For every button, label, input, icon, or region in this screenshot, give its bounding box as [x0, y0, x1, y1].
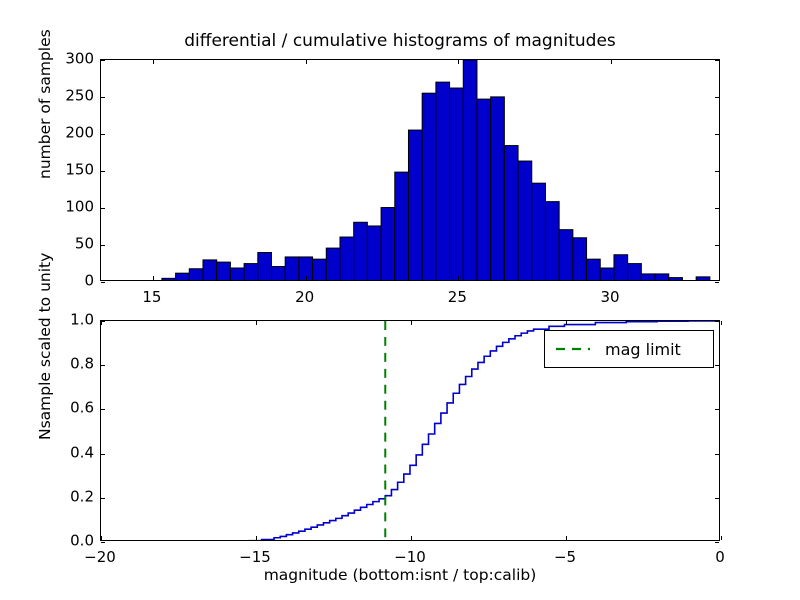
histogram-bar: [641, 274, 655, 280]
y-tick-mark: [101, 282, 105, 283]
y-tick-label: 0.0: [38, 534, 94, 549]
y-tick-mark: [101, 208, 105, 209]
histogram-bar: [395, 172, 409, 280]
x-tick-label: 30: [601, 290, 620, 305]
y-tick-mark: [715, 171, 719, 172]
histogram-bar: [258, 253, 272, 280]
y-tick-mark: [715, 321, 719, 322]
y-tick-mark: [715, 134, 719, 135]
histogram-bar: [230, 268, 244, 280]
figure-canvas: differential / cumulative histograms of …: [0, 0, 800, 600]
x-axis-label: magnitude (bottom:isnt / top:calib): [0, 566, 800, 584]
x-tick-mark: [411, 536, 412, 540]
x-tick-mark: [721, 321, 722, 325]
x-tick-label: 15: [142, 290, 161, 305]
x-tick-label: −10: [394, 550, 426, 565]
histogram-bar: [628, 264, 642, 280]
histogram-bar: [614, 255, 628, 280]
y-tick-mark: [101, 454, 105, 455]
y-tick-label: 300: [38, 52, 94, 67]
x-tick-mark: [458, 60, 459, 64]
y-tick-label: 1.0: [38, 313, 94, 328]
y-tick-mark: [715, 498, 719, 499]
y-tick-label: 0.4: [38, 445, 94, 460]
x-tick-mark: [611, 276, 612, 280]
histogram-bar: [491, 97, 505, 280]
y-tick-mark: [101, 97, 105, 98]
histogram-bar: [189, 269, 203, 280]
y-tick-mark: [101, 365, 105, 366]
y-tick-mark: [101, 542, 105, 543]
page-title: differential / cumulative histograms of …: [0, 31, 800, 51]
x-tick-mark: [411, 321, 412, 325]
y-tick-mark: [715, 282, 719, 283]
y-tick-label: 50: [38, 237, 94, 252]
mag-limit-line-icon: [555, 342, 591, 356]
x-tick-mark: [611, 60, 612, 64]
histogram-bar: [669, 278, 683, 280]
x-tick-label: −5: [554, 550, 576, 565]
histogram-bar: [573, 238, 587, 280]
legend-label-mag-limit: mag limit: [605, 340, 681, 359]
y-tick-label: 0: [38, 274, 94, 289]
x-tick-mark: [256, 536, 257, 540]
histogram-bar: [340, 237, 354, 280]
histogram-bar: [162, 278, 176, 280]
histogram-bar: [450, 88, 464, 280]
histogram-bar: [477, 99, 491, 280]
y-tick-mark: [715, 97, 719, 98]
y-tick-mark: [715, 365, 719, 366]
x-tick-mark: [153, 60, 154, 64]
histogram-bar: [217, 262, 231, 280]
x-tick-mark: [101, 321, 102, 325]
histogram-bar: [408, 130, 422, 280]
y-tick-mark: [101, 245, 105, 246]
y-tick-label: 100: [38, 200, 94, 215]
histogram-bar: [313, 259, 327, 280]
histogram-bar: [696, 277, 710, 280]
histogram-bar: [285, 257, 299, 280]
y-tick-mark: [715, 60, 719, 61]
x-tick-mark: [256, 321, 257, 325]
y-tick-mark: [101, 409, 105, 410]
x-tick-mark: [721, 536, 722, 540]
histogram-bar: [354, 222, 368, 280]
x-tick-mark: [101, 536, 102, 540]
y-tick-mark: [715, 542, 719, 543]
histogram-bar: [422, 93, 436, 280]
x-tick-mark: [306, 60, 307, 64]
x-tick-label: 0: [715, 550, 725, 565]
histogram-bar: [176, 273, 190, 280]
x-tick-mark: [458, 276, 459, 280]
y-tick-label: 0.6: [38, 401, 94, 416]
histogram-bar: [381, 208, 395, 280]
legend-box[interactable]: mag limit: [544, 330, 714, 368]
x-tick-mark: [566, 536, 567, 540]
histogram-bar: [203, 260, 217, 280]
y-tick-label: 250: [38, 89, 94, 104]
histogram-bar: [271, 267, 285, 280]
y-tick-mark: [715, 409, 719, 410]
y-tick-label: 0.8: [38, 357, 94, 372]
histogram-bar: [367, 226, 381, 280]
histogram-bars: [101, 60, 719, 280]
y-tick-mark: [715, 245, 719, 246]
x-tick-label: −20: [84, 550, 116, 565]
histogram-bar: [655, 274, 669, 280]
y-tick-mark: [101, 171, 105, 172]
histogram-plot-area: [101, 60, 719, 280]
y-tick-mark: [101, 134, 105, 135]
y-tick-mark: [101, 498, 105, 499]
y-tick-mark: [715, 454, 719, 455]
x-tick-mark: [566, 321, 567, 325]
histogram-panel: [100, 59, 720, 281]
histogram-bar: [504, 146, 518, 280]
x-tick-label: −15: [239, 550, 271, 565]
histogram-bar: [587, 259, 601, 280]
histogram-bar: [436, 82, 450, 280]
x-tick-label: 20: [295, 290, 314, 305]
y-tick-label: 200: [38, 126, 94, 141]
histogram-bar: [545, 202, 559, 280]
histogram-bar: [463, 60, 477, 280]
x-tick-mark: [306, 276, 307, 280]
y-tick-label: 0.2: [38, 489, 94, 504]
y-tick-label: 150: [38, 163, 94, 178]
y-tick-mark: [715, 208, 719, 209]
histogram-bar: [244, 264, 258, 280]
y-tick-mark: [101, 60, 105, 61]
histogram-bar: [532, 183, 546, 280]
histogram-bar: [518, 161, 532, 280]
histogram-bar: [559, 230, 573, 280]
x-tick-label: 25: [448, 290, 467, 305]
x-tick-mark: [153, 276, 154, 280]
histogram-bar: [326, 248, 340, 280]
